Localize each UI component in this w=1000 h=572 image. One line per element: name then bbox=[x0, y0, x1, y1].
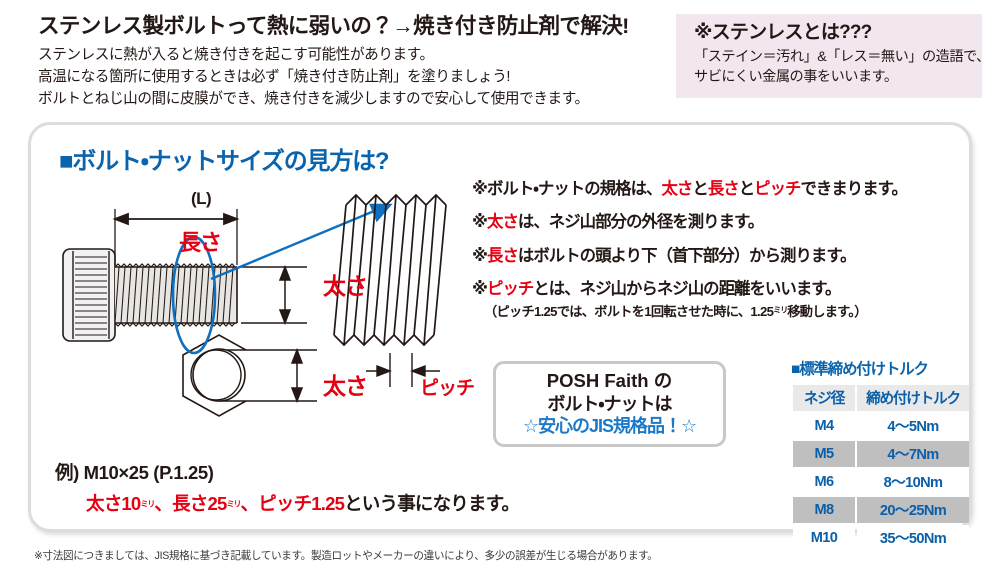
cell-size: M4 bbox=[793, 413, 855, 439]
page-headline: ステンレス製ボルトって熱に弱いの？→焼き付き防止剤で解決! bbox=[38, 14, 658, 39]
example-length: 長さ25 bbox=[172, 493, 226, 514]
example-pitch: ピッチ1.25 bbox=[258, 493, 344, 514]
posh-jis-line: ☆安心のJIS規格品！☆ bbox=[496, 415, 723, 437]
bullet-1-red-length: 長さ bbox=[708, 180, 739, 198]
bullet-4-note-a: （ピッチ1.25では、ボルトを1回転させた時に、1.25 bbox=[484, 304, 773, 319]
nut-thickness-dimension bbox=[279, 350, 317, 401]
headline-subtext: ステンレスに熱が入ると焼き付きを起こす可能性があります。 高温になる箇所に使用す… bbox=[38, 44, 658, 111]
stainless-definition-box: ※ステンレスとは??? 「ステイン＝汚れ」&「レス＝無い」の造語で、 サビにくい… bbox=[676, 14, 982, 98]
torque-table-title: ■標準締め付けトルク bbox=[791, 357, 971, 379]
cell-torque: 20〜25Nm bbox=[857, 497, 969, 523]
torque-table-section: ■標準締め付けトルク ネジ径 締め付けトルク M4 4〜5Nm M5 4〜7Nm bbox=[791, 357, 971, 553]
headline-block: ステンレス製ボルトって熱に弱いの？→焼き付き防止剤で解決! ステンレスに熱が入る… bbox=[38, 14, 658, 110]
length-label: 長さ bbox=[179, 225, 221, 257]
bullet-1-mid2: と bbox=[739, 180, 754, 198]
cell-size: M10 bbox=[793, 525, 855, 551]
stainless-box-body: 「ステイン＝汚れ」&「レス＝無い」の造語で、 サビにくい金属の事をいいます。 bbox=[694, 47, 982, 88]
bullet-1-suffix: できまります。 bbox=[800, 180, 906, 198]
table-header-row: ネジ径 締め付けトルク bbox=[793, 385, 969, 411]
example-spec-line: 例) M10×25 (P.1.25) bbox=[55, 459, 519, 485]
footnote: ※寸法図につきましては、JIS規格に基づき記載しています。製造ロットやメーカーの… bbox=[34, 548, 658, 563]
table-row: M6 8〜10Nm bbox=[793, 469, 969, 495]
bolt-thickness-label: 太さ bbox=[323, 267, 367, 301]
bullet-item-1: ※ボルト・ナットの規格は、太さと長さとピッチできまります。 bbox=[472, 181, 972, 197]
table-row: M10 35〜50Nm bbox=[793, 525, 969, 551]
column-header-torque: 締め付けトルク bbox=[857, 385, 969, 411]
example-sep-2: 、 bbox=[240, 493, 258, 514]
main-panel: ■ボルト・ナットサイズの見方は? bbox=[28, 122, 972, 532]
spec-bullet-list: ※ボルト・ナットの規格は、太さと長さとピッチできまります。 ※太さは、ネジ山部分… bbox=[472, 181, 972, 335]
nut-thickness-label: 太さ bbox=[323, 367, 367, 401]
headline-sub-line: 高温になる箇所に使用するときは必ず「焼き付き防止剤」を塗りましょう! bbox=[38, 66, 658, 88]
posh-product-line: ボルト・ナットは bbox=[496, 393, 723, 415]
bullet-3-suffix: はボルトの頭より下（首下部分）から測ります。 bbox=[518, 247, 856, 265]
pitch-label: ピッチ bbox=[420, 373, 474, 400]
bullet-4-note-b: 移動します。） bbox=[787, 304, 867, 319]
bullet-2-red-thickness: 太さ bbox=[487, 213, 518, 231]
example-tail: という事になります。 bbox=[344, 493, 519, 514]
cell-size: M6 bbox=[793, 469, 855, 495]
example-thickness-unit: ミリ bbox=[140, 499, 154, 508]
header-area: ステンレス製ボルトって熱に弱いの？→焼き付き防止剤で解決! ステンレスに熱が入る… bbox=[0, 0, 1000, 112]
bullet-4-note-ruby: ミリ bbox=[773, 305, 787, 314]
table-row: M8 20〜25Nm bbox=[793, 497, 969, 523]
posh-faith-box: POSH Faith の ボルト・ナットは ☆安心のJIS規格品！☆ bbox=[493, 361, 726, 447]
column-header-size: ネジ径 bbox=[793, 385, 855, 411]
hex-nut-icon bbox=[183, 335, 279, 416]
cell-torque: 4〜7Nm bbox=[857, 441, 969, 467]
headline-sub-line: ステンレスに熱が入ると焼き付きを起こす可能性があります。 bbox=[38, 44, 658, 66]
length-dimension-arrow bbox=[115, 214, 237, 224]
page-title: ■ボルト・ナットサイズの見方は? bbox=[59, 141, 388, 176]
cell-torque: 8〜10Nm bbox=[857, 469, 969, 495]
bolt-thickness-dimension bbox=[241, 267, 307, 323]
bullet-1-prefix: ※ボルト・ナットの規格は、 bbox=[472, 180, 661, 198]
bullet-3-prefix: ※ bbox=[472, 247, 487, 265]
bullet-item-4: ※ピッチとは、ネジ山からネジ山の距離をいいます。 （ピッチ1.25では、ボルトを… bbox=[472, 281, 972, 318]
example-thickness: 太さ10 bbox=[86, 493, 140, 514]
bullet-2-suffix: は、ネジ山部分の外径を測ります。 bbox=[518, 213, 763, 231]
example-block: 例) M10×25 (P.1.25) 太さ10ミリ、長さ25ミリ、ピッチ1.25… bbox=[55, 459, 519, 516]
bolt-dimension-diagram: (L) 長さ 太さ 太さ ピッチ bbox=[49, 187, 479, 457]
bolt-diagram-svg bbox=[49, 187, 479, 457]
example-explanation-line: 太さ10ミリ、長さ25ミリ、ピッチ1.25という事になります。 bbox=[86, 490, 519, 516]
example-length-unit: ミリ bbox=[226, 499, 240, 508]
bolt-head-icon bbox=[63, 249, 115, 341]
cell-size: M5 bbox=[793, 441, 855, 467]
table-row: M5 4〜7Nm bbox=[793, 441, 969, 467]
bullet-1-mid1: と bbox=[692, 180, 707, 198]
stainless-box-line: 「ステイン＝汚れ」&「レス＝無い」の造語で、 bbox=[694, 47, 982, 68]
cell-torque: 4〜5Nm bbox=[857, 413, 969, 439]
example-sep-1: 、 bbox=[154, 493, 172, 514]
length-code-label: (L) bbox=[191, 189, 211, 209]
bullet-1-red-pitch: ピッチ bbox=[754, 180, 800, 198]
cell-torque: 35〜50Nm bbox=[857, 525, 969, 551]
bullet-4-red-pitch: ピッチ bbox=[487, 280, 533, 298]
bullet-4-prefix: ※ bbox=[472, 280, 487, 298]
bullet-1-red-thickness: 太さ bbox=[661, 180, 692, 198]
bullet-4-suffix: とは、ネジ山からネジ山の距離をいいます。 bbox=[533, 280, 840, 298]
stainless-box-line: サビにくい金属の事をいいます。 bbox=[694, 67, 982, 88]
cell-size: M8 bbox=[793, 497, 855, 523]
posh-brand-line: POSH Faith の bbox=[496, 370, 723, 393]
bullet-4-note: （ピッチ1.25では、ボルトを1回転させた時に、1.25ミリ移動します。） bbox=[484, 305, 972, 318]
bullet-3-red-length: 長さ bbox=[487, 247, 518, 265]
headline-sub-line: ボルトとねじ山の間に皮膜ができ、焼き付きを減少しますので安心して使用できます。 bbox=[38, 88, 658, 110]
bullet-2-prefix: ※ bbox=[472, 213, 487, 231]
bullet-item-3: ※長さはボルトの頭より下（首下部分）から測ります。 bbox=[472, 248, 972, 264]
torque-table: ネジ径 締め付けトルク M4 4〜5Nm M5 4〜7Nm M6 8〜10Nm bbox=[791, 383, 971, 553]
stainless-box-title: ※ステンレスとは??? bbox=[694, 23, 982, 44]
table-row: M4 4〜5Nm bbox=[793, 413, 969, 439]
bolt-shank-icon bbox=[115, 264, 237, 326]
bullet-item-2: ※太さは、ネジ山部分の外径を測ります。 bbox=[472, 214, 972, 230]
